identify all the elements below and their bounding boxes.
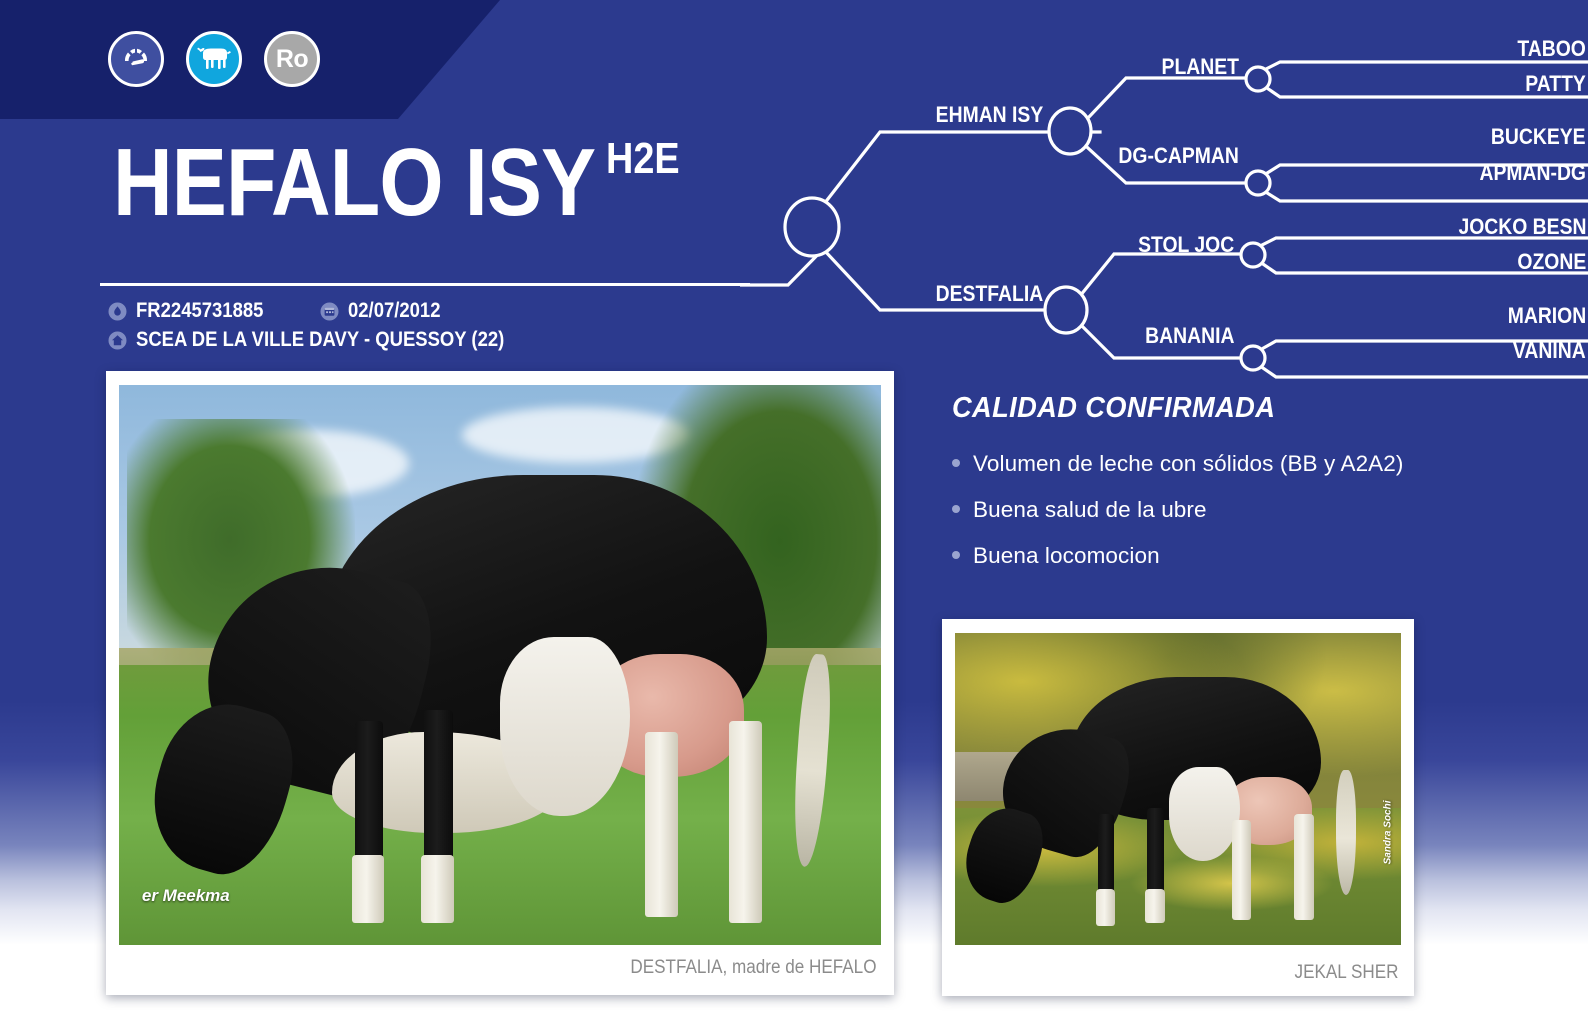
animal-meta: FR2245731885 02/07/2012 — [108, 298, 555, 353]
cow-leg — [1294, 814, 1314, 920]
autumn-scene: Sandra Sochi — [955, 633, 1401, 945]
meta-row-breeder: SCEA DE LA VILLE DAVY - QUESSOY (22) — [108, 327, 555, 353]
quality-text: Buena salud de la ubre — [973, 497, 1207, 523]
pedigree-node-capman — [1246, 171, 1270, 195]
pedigree-label-dam: DESTFALIA — [935, 283, 1043, 305]
gauge-badge[interactable] — [108, 31, 164, 87]
bullet-icon — [952, 505, 960, 513]
meta-row-identity: FR2245731885 02/07/2012 — [108, 298, 555, 324]
title-divider — [100, 283, 750, 286]
animal-name: HEFALO ISY — [113, 139, 595, 227]
cow-leg — [1147, 808, 1164, 898]
pasture-scene: er Meekma — [119, 385, 881, 945]
qualities-list: Volumen de leche con sólidos (BB y A2A2)… — [952, 451, 1552, 569]
main-photo-image: er Meekma — [119, 385, 881, 945]
badge-row: Ro — [108, 31, 320, 87]
pedigree-label-vanina: VANINA — [1513, 340, 1586, 362]
bullet-icon — [952, 459, 960, 467]
pedigree-label-taboo: TABOO — [1518, 38, 1586, 60]
secondary-photo-card: Sandra Sochi JEKAL SHER — [942, 619, 1414, 996]
pedigree-label-buckeye: BUCKEYE — [1491, 126, 1586, 148]
cow-leg — [421, 855, 455, 922]
pedigree-label-marion: MARION — [1507, 305, 1586, 327]
qualities-section: CALIDAD CONFIRMADA Volumen de leche con … — [952, 392, 1552, 589]
pedigree-tree: EHMAN ISY DESTFALIA PLANET DG-CAPMAN STO… — [740, 0, 1588, 380]
cow-leg — [645, 732, 679, 917]
pedigree-node-planet — [1246, 67, 1270, 91]
quality-text: Buena locomocion — [973, 543, 1160, 569]
photographer-watermark: er Meekma — [142, 886, 230, 906]
gauge-icon — [119, 40, 153, 79]
pedigree-label-dam-dam: BANANIA — [1145, 325, 1234, 347]
pedigree-label-sire-sire: PLANET — [1162, 56, 1239, 78]
secondary-photo-caption: JEKAL SHER — [1294, 962, 1398, 984]
cow-leg — [729, 721, 763, 923]
pedigree-node-dam — [1045, 287, 1087, 333]
list-item: Buena locomocion — [952, 543, 1552, 569]
animal-name-suffix: H2E — [606, 137, 680, 181]
quality-text: Volumen de leche con sólidos (BB y A2A2) — [973, 451, 1404, 477]
poster-root: Ro HEFALO ISYH2E FR2245731885 — [0, 0, 1588, 1032]
calendar-icon — [320, 302, 339, 321]
bullet-icon — [952, 551, 960, 559]
main-photo-card: er Meekma DESTFALIA, madre de HEFALO — [106, 371, 894, 995]
pedigree-label-ozone: OZONE — [1517, 251, 1586, 273]
pedigree-node-stoljoc — [1241, 243, 1265, 267]
qualities-title: CALIDAD CONFIRMADA — [952, 392, 1516, 425]
secondary-photo-image: Sandra Sochi — [955, 633, 1401, 945]
cow-leg — [1232, 820, 1252, 920]
meta-date-group: 02/07/2012 — [320, 299, 453, 323]
home-icon — [108, 331, 127, 350]
breeder-name: SCEA DE LA VILLE DAVY - QUESSOY (22) — [136, 328, 504, 352]
cow-leg — [352, 855, 384, 922]
cow-leg — [1145, 889, 1165, 923]
ro-badge[interactable]: Ro — [264, 31, 320, 87]
cow-leg — [424, 710, 453, 878]
page-title: HEFALO ISYH2E — [113, 139, 691, 227]
animal-id: FR2245731885 — [136, 299, 263, 323]
pedigree-label-patty: PATTY — [1525, 73, 1586, 95]
pedigree-label-sire-dam: DG-CAPMAN — [1119, 145, 1239, 167]
meta-id-group: FR2245731885 — [108, 299, 281, 323]
list-item: Volumen de leche con sólidos (BB y A2A2) — [952, 451, 1552, 477]
pedigree-node-banania — [1241, 346, 1265, 370]
cow-badge[interactable] — [186, 31, 242, 87]
list-item: Buena salud de la ubre — [952, 497, 1552, 523]
pedigree-label-dam-sire: STOL JOC — [1138, 234, 1234, 256]
birth-date: 02/07/2012 — [348, 299, 440, 323]
pedigree-label-sire: EHMAN ISY — [935, 104, 1043, 126]
pedigree-node-sire — [1049, 108, 1091, 154]
cow-leg — [1096, 889, 1115, 926]
pedigree-label-jocko-besn: JOCKO BESN — [1458, 216, 1586, 238]
cow-icon — [196, 42, 232, 77]
pedigree-label-apman-dg: APMAN-DG — [1480, 162, 1586, 184]
photographer-watermark: Sandra Sochi — [1382, 801, 1393, 865]
ro-badge-label: Ro — [276, 47, 308, 72]
pedigree-node-root — [785, 198, 839, 256]
tag-icon — [108, 302, 127, 321]
main-photo-caption: DESTFALIA, madre de HEFALO — [630, 957, 876, 979]
